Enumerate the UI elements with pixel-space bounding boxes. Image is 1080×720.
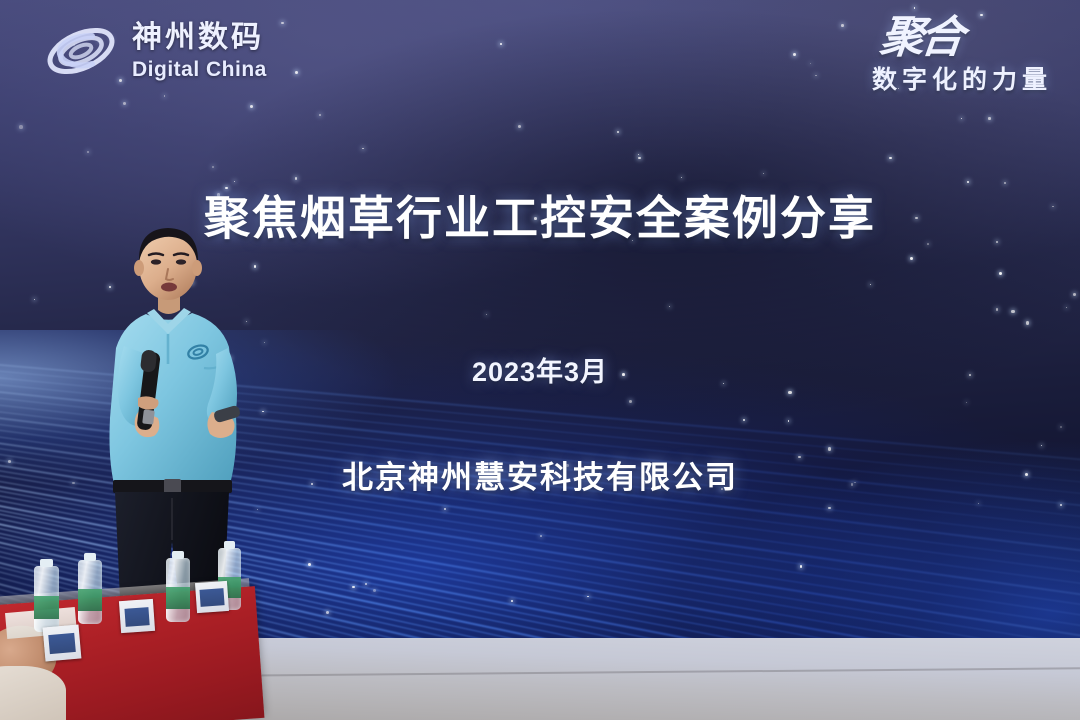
brand-name-cn: 神州数码	[132, 23, 267, 53]
particle-dot	[319, 114, 321, 116]
particle-dot	[810, 63, 811, 64]
particle-dot	[123, 102, 126, 105]
water-bottle	[166, 558, 190, 622]
particle-dot	[19, 125, 23, 129]
particle-dot	[1011, 310, 1015, 314]
particle-dot	[1026, 321, 1029, 324]
particle-dot	[617, 131, 619, 133]
particle-dot	[295, 177, 298, 180]
particle-dot	[362, 148, 364, 150]
event-logo-tagline: 数字化的力量	[872, 60, 1052, 96]
bottle-body	[78, 560, 102, 624]
name-card	[43, 624, 82, 661]
bottle-label	[166, 587, 190, 609]
particle-dot	[961, 118, 962, 119]
brand-name-en: Digital China	[132, 59, 267, 80]
particle-dot	[788, 420, 789, 421]
particle-dot	[250, 105, 253, 108]
bottle-cap	[224, 541, 236, 549]
water-bottle	[78, 560, 102, 624]
particle-dot	[669, 306, 671, 308]
digital-china-wordmark: 神州数码 Digital China	[132, 23, 267, 80]
bottle-label	[78, 589, 102, 611]
digital-china-logo: 神州数码 Digital China	[42, 20, 267, 82]
conference-stage-photo: 神州数码 Digital China 聚合 数字化的力量 聚焦烟草行业工控安全案…	[0, 0, 1080, 720]
bottle-body	[34, 566, 59, 632]
particle-dot	[295, 71, 298, 74]
particle-dot	[763, 173, 764, 174]
bottle-cap	[84, 553, 97, 561]
particle-dot	[486, 314, 487, 315]
particle-dot	[281, 22, 283, 24]
particle-dot	[638, 157, 640, 159]
particle-dot	[914, 7, 915, 8]
name-card	[119, 599, 155, 633]
particle-dot	[1073, 293, 1076, 296]
particle-dot	[980, 14, 983, 17]
name-card-text	[48, 633, 75, 654]
particle-dot	[999, 272, 1002, 275]
particle-dot	[910, 257, 913, 260]
particle-dot	[34, 299, 36, 301]
particle-dot	[870, 284, 871, 285]
particle-dot	[164, 95, 165, 96]
particle-dot	[996, 308, 999, 311]
particle-dot	[841, 24, 844, 27]
name-card-text	[124, 607, 150, 627]
particle-dot	[638, 154, 639, 155]
event-logo-mark: 聚合	[870, 18, 962, 58]
particle-dot	[788, 391, 791, 394]
bottle-cap	[172, 551, 185, 559]
particle-dot	[1066, 307, 1067, 308]
bottle-label	[34, 596, 59, 618]
water-bottle	[34, 566, 59, 632]
particle-dot	[681, 177, 682, 178]
particle-dot	[518, 125, 521, 128]
particle-dot	[212, 166, 214, 168]
particle-dot	[889, 157, 891, 159]
particle-dot	[500, 43, 502, 45]
particle-dot	[1041, 445, 1042, 446]
event-logo: 聚合 数字化的力量	[872, 18, 1052, 96]
audience-member-shoulder	[0, 666, 66, 720]
particle-dot	[1060, 426, 1062, 428]
particle-dot	[828, 507, 830, 509]
particle-dot	[988, 117, 990, 119]
particle-dot	[87, 151, 89, 153]
particle-dot	[815, 75, 817, 77]
bottle-cap	[40, 559, 53, 567]
name-card	[195, 581, 229, 613]
bottle-body	[166, 558, 190, 622]
belt-buckle	[164, 479, 181, 494]
digital-china-swirl-icon	[42, 20, 120, 82]
name-card-text	[200, 588, 224, 606]
particle-dot	[793, 53, 796, 56]
particle-dot	[800, 565, 802, 567]
